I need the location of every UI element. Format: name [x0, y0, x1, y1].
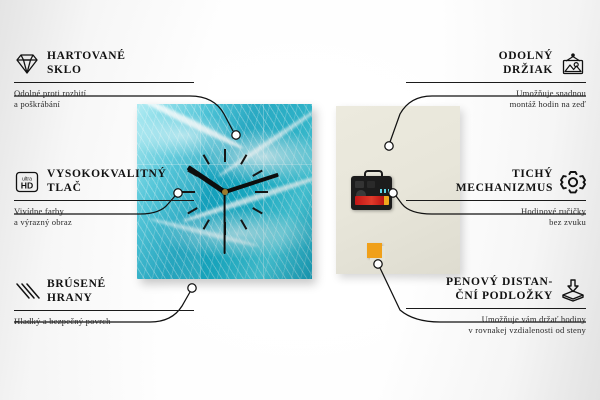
svg-text:HD: HD	[21, 180, 33, 190]
clock-center-cap	[222, 189, 228, 195]
divider	[406, 200, 586, 201]
mechanism-button-left	[355, 181, 364, 188]
feature-description: Umožňuje vám držať hodiny v rovnakej vzd…	[406, 314, 586, 335]
gear-icon	[560, 170, 586, 194]
clock-second-hand	[224, 192, 226, 254]
divider	[14, 82, 194, 83]
mechanism-label	[380, 189, 389, 193]
diamond-icon	[14, 52, 40, 76]
divider	[406, 308, 586, 309]
feature-description: Hladký a bezpečný povrch	[14, 316, 194, 327]
feature-high-quality-print: ultra HD VYSOKOKVALITNÝ TLAČ Vivídne far…	[14, 168, 194, 227]
feature-title: ODOLNÝ DRŽIAK	[499, 50, 553, 77]
feature-title: BRÚSENÉ HRANY	[47, 278, 106, 305]
foam-spacer-icon	[560, 278, 586, 302]
foam-spacer-pad	[367, 243, 382, 258]
divider	[14, 310, 194, 311]
ultra-hd-icon: ultra HD	[14, 170, 40, 194]
wall-mount-picture-icon	[560, 52, 586, 76]
infographic-canvas: HARTOVANÉ SKLO Odolné proti rozbití a po…	[0, 0, 600, 400]
feature-description: Odolné proti rozbití a poškrábání	[14, 88, 194, 109]
feature-foam-spacers: PENOVÝ DISTAN- ČNÍ PODLOŽKY Umožňuje vám…	[406, 276, 586, 335]
feature-title: PENOVÝ DISTAN- ČNÍ PODLOŽKY	[446, 276, 553, 303]
battery-terminal	[384, 196, 389, 205]
battery	[355, 196, 385, 205]
feature-title: HARTOVANÉ SKLO	[47, 50, 126, 77]
clock-mechanism	[351, 170, 392, 210]
ground-edges-icon	[14, 280, 40, 304]
feature-title: VYSOKOKVALITNÝ TLAČ	[47, 168, 166, 195]
mechanism-button-right	[367, 181, 375, 188]
feature-description: Vivídne farby a výrazný obraz	[14, 206, 194, 227]
divider	[406, 82, 586, 83]
feature-ground-edges: BRÚSENÉ HRANY Hladký a bezpečný povrch	[14, 278, 194, 327]
feature-durable-mount: ODOLNÝ DRŽIAK Umožňuje snadnou montáž ho…	[406, 50, 586, 109]
feature-description: Hodinové ručičky bez zvuku	[406, 206, 586, 227]
divider	[14, 200, 194, 201]
feature-tempered-glass: HARTOVANÉ SKLO Odolné proti rozbití a po…	[14, 50, 194, 109]
feature-silent-mechanism: TICHÝ MECHANIZMUS Hodinové ručičky bez z…	[406, 168, 586, 227]
feature-description: Umožňuje snadnou montáž hodin na zeď	[406, 88, 586, 109]
feature-title: TICHÝ MECHANIZMUS	[456, 168, 553, 195]
